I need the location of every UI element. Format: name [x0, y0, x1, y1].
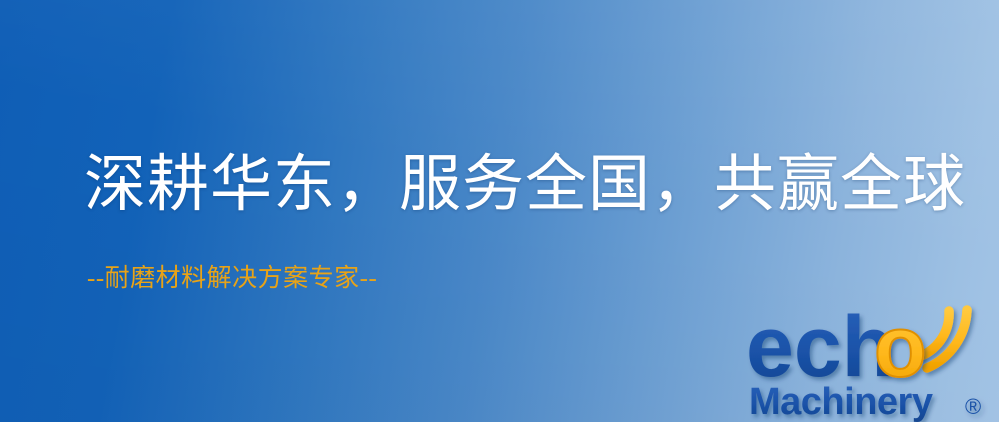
page-subtitle: --耐磨材料解决方案专家--: [87, 264, 377, 294]
echo-machinery-logo: ech o Machinery ®: [746, 296, 999, 422]
signal-wave-icon: [921, 310, 967, 368]
promo-banner: 深耕华东，服务全国，共赢全球 --耐磨材料解决方案专家--: [0, 0, 999, 422]
page-title: 深耕华东，服务全国，共赢全球: [84, 150, 966, 221]
logo-registered-mark: ®: [965, 394, 981, 419]
logo-tagline: Machinery: [749, 381, 933, 422]
